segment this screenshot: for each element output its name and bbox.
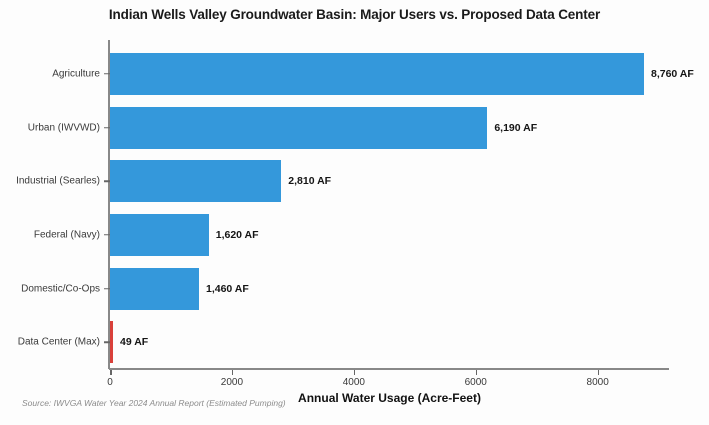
y-tick-label-5: Data Center (Max) <box>18 337 100 348</box>
bar-row: 1,460 AF <box>110 268 669 310</box>
x-tick-mark <box>232 370 234 375</box>
y-tick-label-2: Industrial (Searles) <box>16 176 100 187</box>
x-tick-mark <box>110 370 112 375</box>
y-tick-label-0: Agriculture <box>52 68 100 79</box>
x-tick-label-4: 8000 <box>587 377 609 388</box>
y-tick-label-1: Urban (IWVWD) <box>28 122 100 133</box>
bar-row: 49 AF <box>110 321 669 363</box>
bar-industrial-searles[interactable] <box>110 160 281 202</box>
plot-area: 8,760 AF6,190 AF2,810 AF1,620 AF1,460 AF… <box>110 47 669 369</box>
bar-agriculture[interactable] <box>110 53 644 95</box>
y-tick-label-3: Federal (Navy) <box>34 229 100 240</box>
y-axis-tick-labels: AgricultureUrban (IWVWD)Industrial (Sear… <box>0 47 100 369</box>
bar-row: 1,620 AF <box>110 214 669 256</box>
x-tick-label-3: 6000 <box>465 377 487 388</box>
bar-value-label: 49 AF <box>120 336 148 348</box>
chart-title: Indian Wells Valley Groundwater Basin: M… <box>0 7 709 22</box>
chart-figure: Indian Wells Valley Groundwater Basin: M… <box>0 0 709 425</box>
bar-data-center-max[interactable] <box>110 321 113 363</box>
bar-urban-iwvwd[interactable] <box>110 107 487 149</box>
x-tick-label-1: 2000 <box>221 377 243 388</box>
bar-row: 6,190 AF <box>110 107 669 149</box>
x-tick-mark <box>598 370 600 375</box>
x-tick-label-0: 0 <box>107 377 113 388</box>
bar-value-label: 6,190 AF <box>494 122 537 134</box>
source-note: Source: IWVGA Water Year 2024 Annual Rep… <box>22 398 286 408</box>
x-tick-mark <box>354 370 356 375</box>
bar-value-label: 8,760 AF <box>651 68 694 80</box>
y-tick-label-4: Domestic/Co-Ops <box>21 283 100 294</box>
bar-domestic-co-ops[interactable] <box>110 268 199 310</box>
bar-row: 8,760 AF <box>110 53 669 95</box>
bar-value-label: 1,460 AF <box>206 283 249 295</box>
bar-value-label: 1,620 AF <box>216 229 259 241</box>
bar-value-label: 2,810 AF <box>288 175 331 187</box>
bar-row: 2,810 AF <box>110 160 669 202</box>
x-tick-mark <box>476 370 478 375</box>
bar-federal-navy[interactable] <box>110 214 209 256</box>
x-tick-label-2: 4000 <box>343 377 365 388</box>
